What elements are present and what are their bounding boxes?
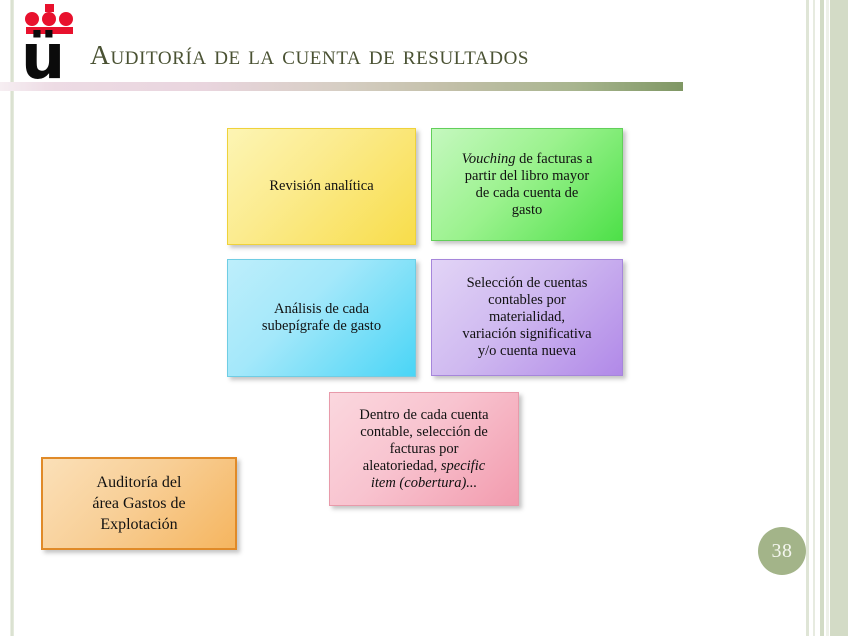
right-edge-stripe-4 (826, 0, 829, 636)
left-edge-accent-line (10, 0, 14, 636)
right-edge-stripe-2 (813, 0, 815, 636)
process-box-seleccion-cuentas-contables[interactable]: Selección de cuentascontables pormateria… (431, 259, 623, 376)
title-divider-rule (0, 82, 683, 91)
urjc-crown-logo: ü (22, 4, 80, 80)
process-box-text: Análisis de cadasubepígrafe de gasto (254, 301, 389, 335)
logo-letter-u: ü (21, 26, 64, 88)
page-number-badge: 38 (758, 527, 806, 575)
process-box-revision-analitica[interactable]: Revisión analítica (227, 128, 416, 245)
slide-canvas: ü Auditoría de la cuenta de resultados R… (0, 0, 848, 636)
process-box-text: Auditoría delárea Gastos deExplotación (84, 472, 193, 535)
process-box-text: Revisión analítica (261, 178, 381, 195)
crown-finial-icon (45, 4, 54, 12)
right-edge-stripe-3 (820, 0, 824, 636)
process-box-vouching-facturas[interactable]: Vouching de facturas apartir del libro m… (431, 128, 623, 241)
process-box-auditoria-area-gastos[interactable]: Auditoría delárea Gastos deExplotación (41, 457, 237, 550)
process-box-text: Dentro de cada cuentacontable, selección… (351, 407, 496, 492)
process-box-text: Selección de cuentascontables pormateria… (454, 275, 599, 360)
right-edge-stripe-1 (806, 0, 809, 636)
process-box-text: Vouching de facturas apartir del libro m… (454, 151, 601, 219)
page-title: Auditoría de la cuenta de resultados (90, 39, 790, 71)
right-edge-stripe-5 (830, 0, 848, 636)
right-edge-stripe-group (806, 0, 848, 636)
process-box-analisis-subepigrafe[interactable]: Análisis de cadasubepígrafe de gasto (227, 259, 416, 377)
process-box-seleccion-facturas[interactable]: Dentro de cada cuentacontable, selección… (329, 392, 519, 506)
